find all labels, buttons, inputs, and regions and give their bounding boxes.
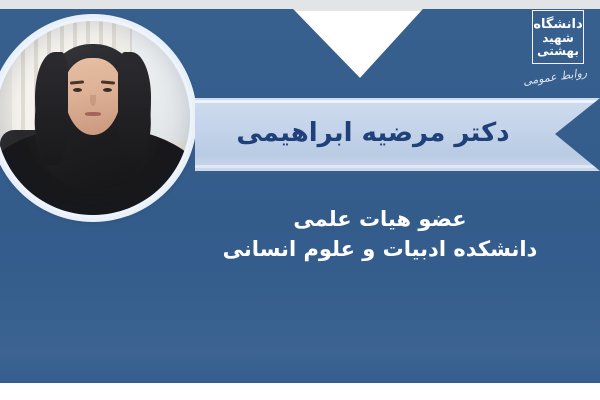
portrait-photo xyxy=(0,21,190,215)
faculty-name: دانشکده ادبیات و علوم انسانی xyxy=(180,235,580,265)
faculty-announcement-card: دکتر مرضیه ابراهیمی عضو هیات علمی دانشکد… xyxy=(0,0,600,400)
bottom-white-band xyxy=(0,383,600,400)
person-name: دکتر مرضیه ابراهیمی xyxy=(195,98,551,171)
logo-box-icon: دانشگاه شهید بهشتی xyxy=(532,10,584,64)
photo-mouth xyxy=(85,112,101,115)
logo-line-1: دانشگاه xyxy=(533,18,582,31)
logo-line-2: شهید xyxy=(542,32,574,44)
university-logo: دانشگاه شهید بهشتی روابط عمومی xyxy=(484,6,588,98)
public-relations-calligraphy: روابط عمومی xyxy=(487,66,588,93)
portrait-frame xyxy=(0,18,193,218)
panel-sheen xyxy=(0,263,600,383)
photo-hijab-drape-right xyxy=(118,52,151,165)
logo-line-3: بهشتی xyxy=(537,45,579,57)
role-subtitle: عضو هیات علمی دانشکده ادبیات و علوم انسا… xyxy=(180,205,580,265)
photo-hijab-drape-left xyxy=(35,52,68,165)
name-ribbon: دکتر مرضیه ابراهیمی xyxy=(195,98,600,171)
role-title: عضو هیات علمی xyxy=(180,205,580,235)
